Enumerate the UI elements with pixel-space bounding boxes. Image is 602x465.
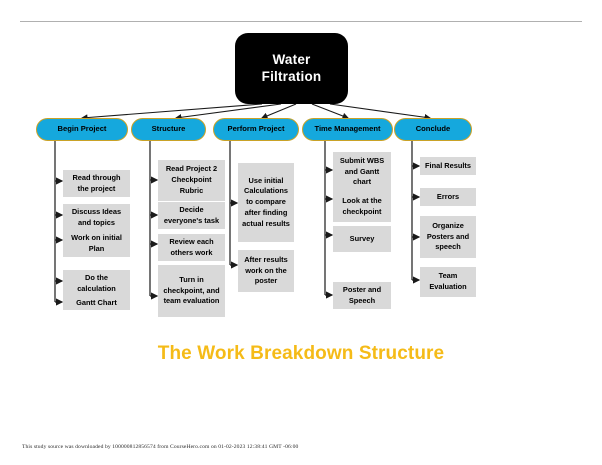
task-box[interactable]: Survey [333, 226, 391, 252]
branch-label: Time Management [314, 125, 380, 134]
branch-label: Structure [152, 125, 186, 134]
task-box[interactable]: Use initial Calculations to compare afte… [238, 163, 294, 242]
task-label: Team Evaluation [423, 271, 473, 292]
branch-label: Conclude [416, 125, 451, 134]
task-label: Look at the checkpoint [336, 196, 388, 217]
task-label: Work on initial Plan [66, 233, 127, 254]
root-node-label: Water Filtration [262, 52, 322, 86]
task-box[interactable]: Decide everyone's task [158, 202, 225, 229]
branch-node-begin-project[interactable]: Begin Project [36, 118, 128, 141]
task-label: After results work on the poster [241, 255, 291, 287]
header-divider [20, 21, 582, 22]
task-label: Read through the project [66, 173, 127, 194]
task-box[interactable]: Gantt Chart [63, 296, 130, 310]
task-label: Final Results [425, 161, 471, 172]
wbs-diagram-page: Water Filtration Begin Project Structure… [0, 0, 602, 465]
task-label: Use initial Calculations to compare afte… [241, 176, 291, 230]
task-label: Errors [437, 192, 459, 203]
branch-node-structure[interactable]: Structure [131, 118, 206, 141]
task-box[interactable]: Discuss Ideas and topics [63, 204, 130, 231]
task-label: Poster and Speech [336, 285, 388, 306]
task-label: Organize Posters and speech [423, 221, 473, 253]
task-box[interactable]: Poster and Speech [333, 282, 391, 309]
task-box[interactable]: Turn in checkpoint, and team evaluation [158, 265, 225, 317]
task-box[interactable]: Read Project 2 Checkpoint Rubric [158, 160, 225, 201]
task-box[interactable]: Work on initial Plan [63, 230, 130, 257]
task-box[interactable]: Final Results [420, 157, 476, 175]
task-label: Read Project 2 Checkpoint Rubric [161, 164, 222, 196]
task-label: Gantt Chart [76, 298, 117, 309]
branch-node-time-management[interactable]: Time Management [302, 118, 393, 141]
task-box[interactable]: Read through the project [63, 170, 130, 197]
branch-node-perform-project[interactable]: Perform Project [213, 118, 299, 141]
task-box[interactable]: Do the calculation [63, 270, 130, 297]
task-box[interactable]: Review each others work [158, 234, 225, 261]
task-label: Review each others work [161, 237, 222, 258]
task-box[interactable]: After results work on the poster [238, 250, 294, 292]
branch-label: Perform Project [228, 125, 285, 134]
task-box[interactable]: Look at the checkpoint [333, 192, 391, 222]
task-label: Discuss Ideas and topics [66, 207, 127, 228]
branch-node-conclude[interactable]: Conclude [394, 118, 472, 141]
task-label: Turn in checkpoint, and team evaluation [161, 275, 222, 307]
coursehero-watermark: This study source was downloaded by 1000… [22, 444, 298, 450]
task-box[interactable]: Errors [420, 188, 476, 206]
task-label: Survey [350, 234, 375, 245]
task-label: Do the calculation [66, 273, 127, 294]
task-label: Submit WBS and Gantt chart [336, 156, 388, 188]
task-label: Decide everyone's task [161, 205, 222, 226]
task-box[interactable]: Submit WBS and Gantt chart [333, 152, 391, 192]
task-box[interactable]: Team Evaluation [420, 267, 476, 297]
root-node-water-filtration[interactable]: Water Filtration [235, 33, 348, 104]
diagram-title: The Work Breakdown Structure [0, 343, 602, 365]
branch-label: Begin Project [58, 125, 107, 134]
task-box[interactable]: Organize Posters and speech [420, 216, 476, 258]
